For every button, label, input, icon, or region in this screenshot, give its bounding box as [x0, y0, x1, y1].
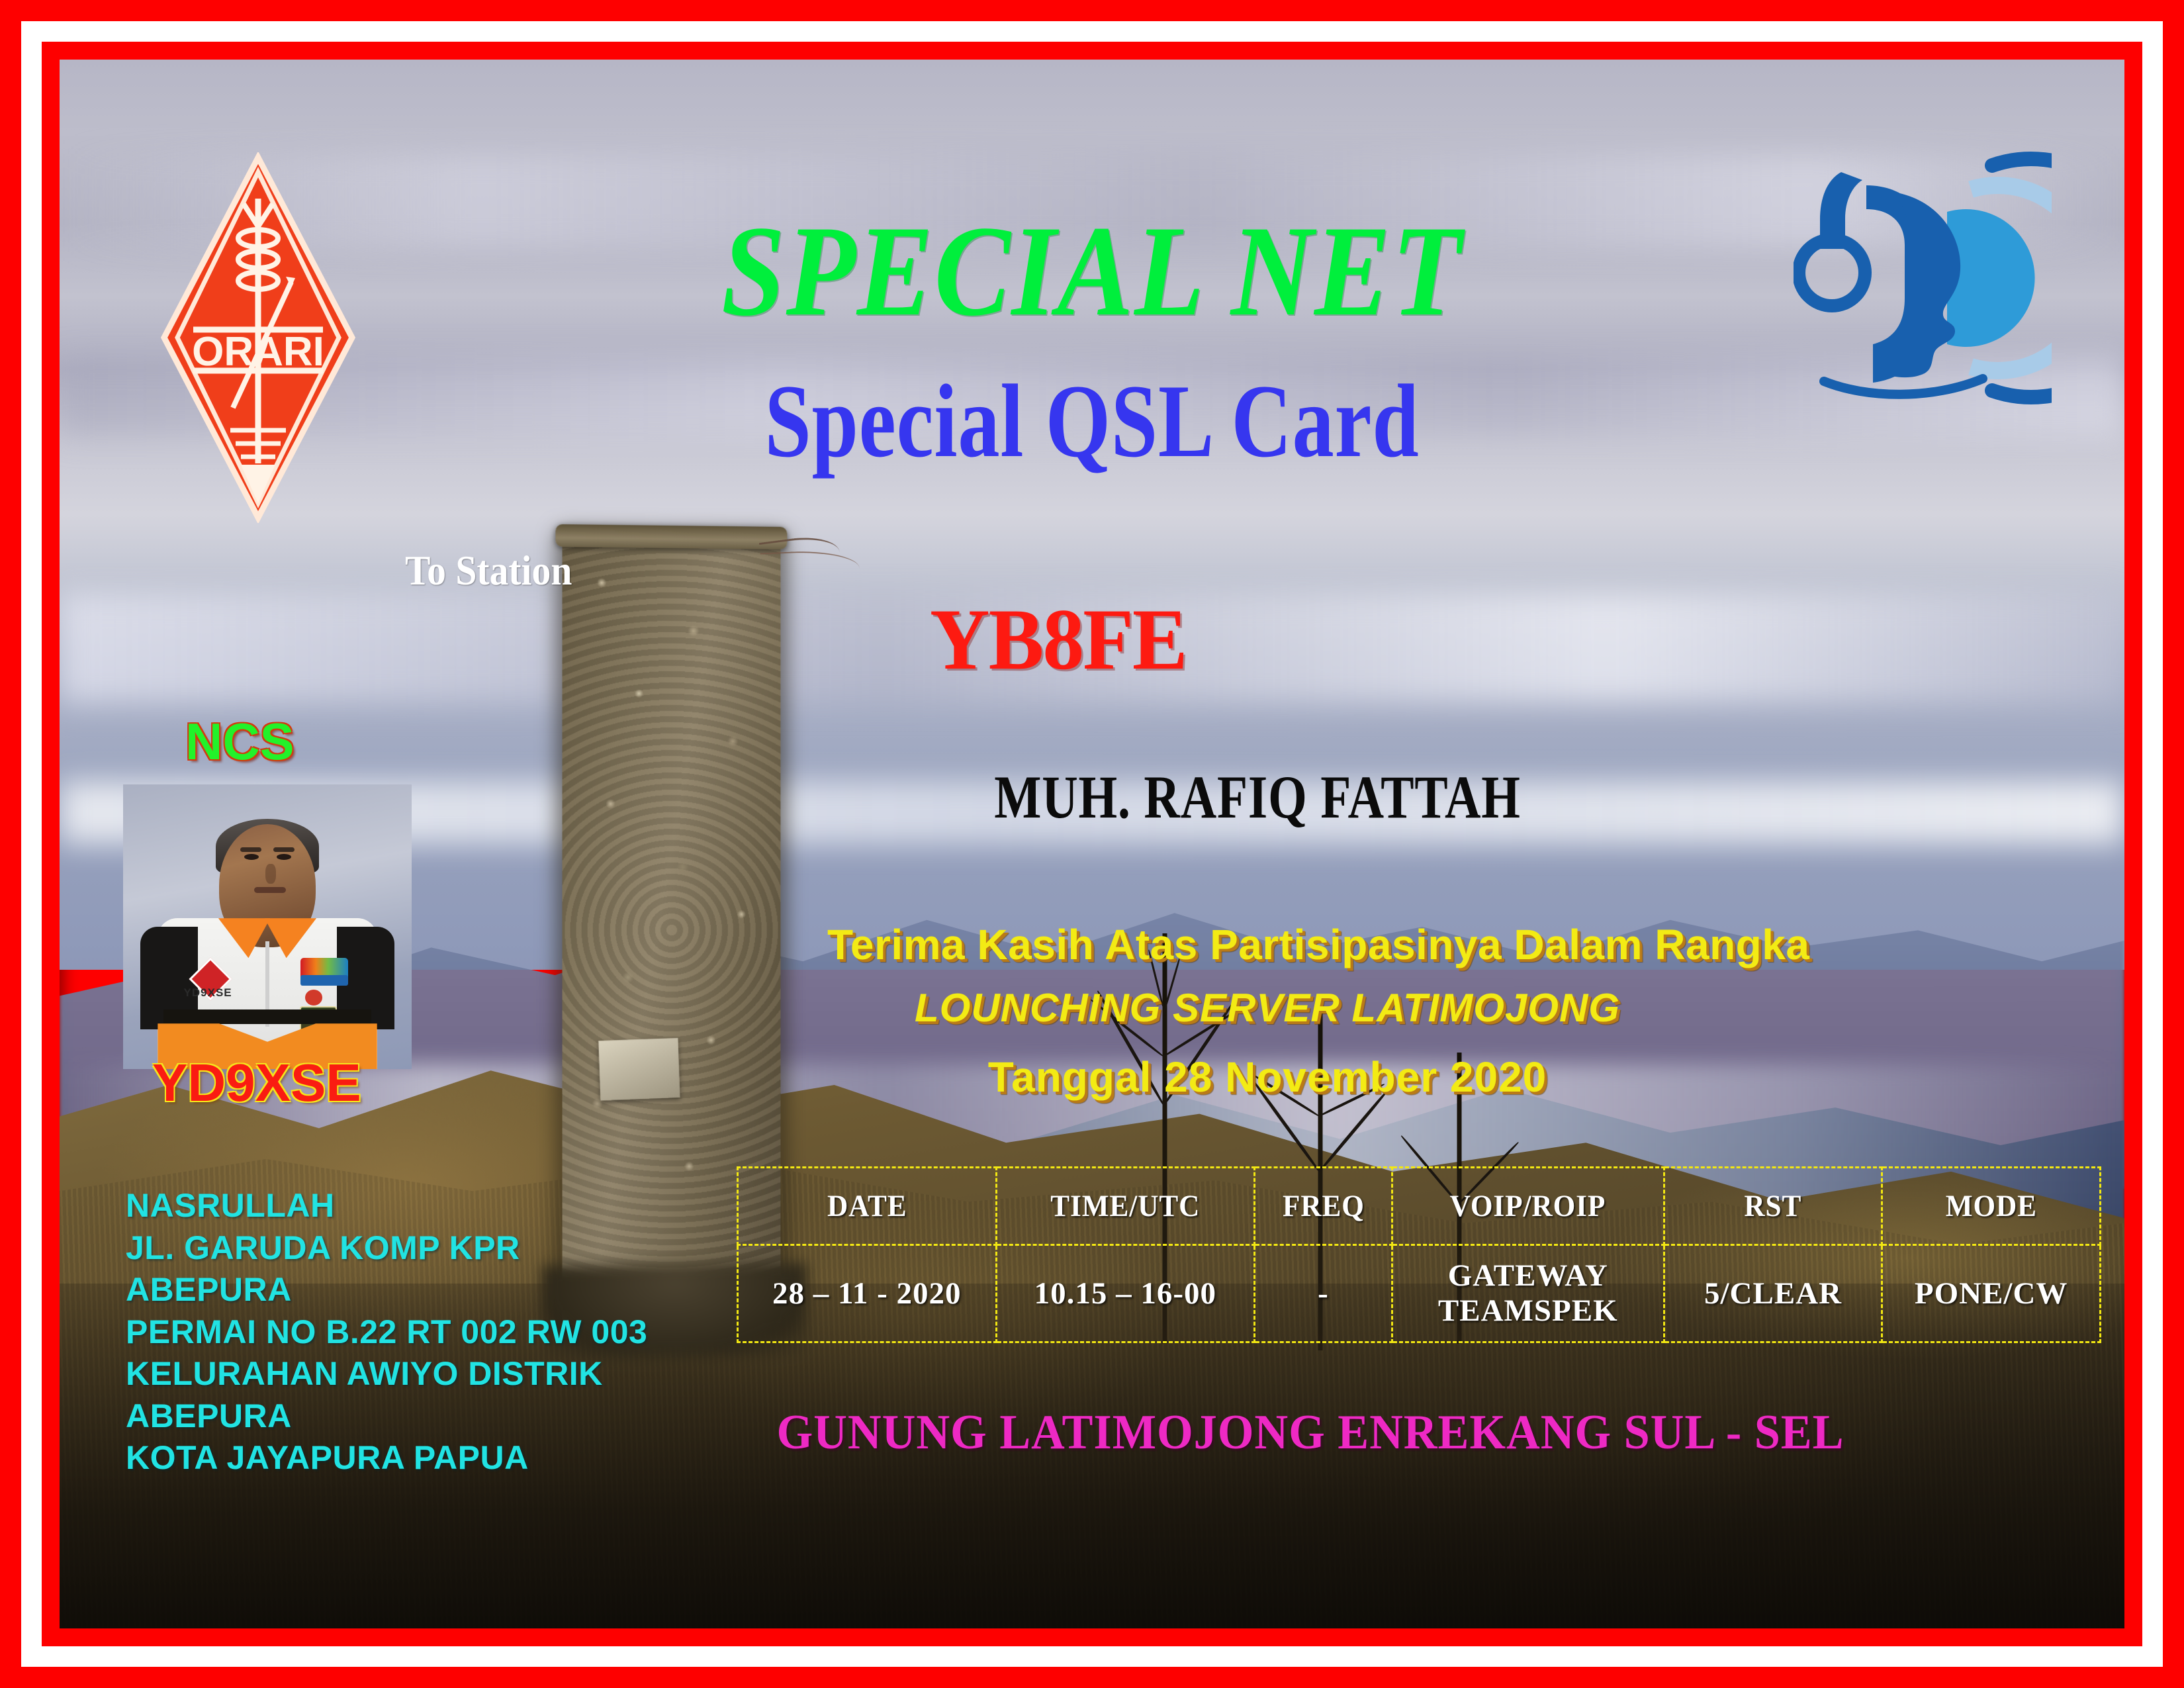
- recipient-callsign: YB8FE: [930, 596, 1559, 683]
- location-label: GUNUNG LATIMOJONG ENREKANG SUL - SEL: [745, 1405, 1876, 1461]
- column-header-time-utc: TIME/UTC: [1007, 1168, 1244, 1245]
- table-row: 28 – 11 - 2020 10.15 – 16-00 - GATEWAY T…: [738, 1245, 2101, 1342]
- cell-rst: 5/CLEAR: [1664, 1245, 1882, 1342]
- cell-voip-roip: GATEWAY TEAMSPEK: [1392, 1245, 1664, 1342]
- cell-voip-line1: GATEWAY: [1394, 1258, 1662, 1293]
- cell-time-utc: 10.15 – 16-00: [996, 1245, 1255, 1342]
- column-header-date: DATE: [748, 1168, 985, 1245]
- event-thanks-line: Terima Kasih Atas Partisipasinya Dalam R…: [827, 920, 1707, 969]
- cell-voip-line2: TEAMSPEK: [1394, 1293, 1662, 1329]
- column-header-freq: FREQ: [1260, 1168, 1387, 1245]
- station-address-block: NASRULLAH JL. GARUDA KOMP KPR ABEPURA PE…: [126, 1185, 721, 1479]
- qso-details-table: DATE TIME/UTC FREQ VOIP/ROIP RST MODE 28…: [737, 1166, 2101, 1343]
- address-line: ABEPURA: [126, 1395, 721, 1438]
- cell-freq: -: [1255, 1245, 1392, 1342]
- address-line: KOTA JAYAPURA PAPUA: [126, 1437, 721, 1479]
- uniform-logo-patch: [300, 975, 348, 986]
- address-line: PERMAI NO B.22 RT 002 RW 003: [126, 1311, 721, 1354]
- column-header-rst: RST: [1672, 1168, 1873, 1245]
- column-header-voip-roip: VOIP/ROIP: [1403, 1168, 1653, 1245]
- address-line: KELURAHAN AWIYO DISTRIK: [126, 1353, 721, 1395]
- card-title-special-qsl-card: Special QSL Card: [266, 369, 1918, 474]
- cairn-plaque: [598, 1038, 680, 1101]
- event-date: Tanggal 28 November 2020: [827, 1053, 1707, 1102]
- cairn-cap: [555, 524, 787, 549]
- event-name: LOUNCHING SERVER LATIMOJONG: [827, 985, 1707, 1031]
- address-line: NASRULLAH: [126, 1185, 721, 1227]
- ncs-operator-photo: YD9XSE: [123, 784, 412, 1069]
- cell-date: 28 – 11 - 2020: [738, 1245, 997, 1342]
- address-line: JL. GARUDA KOMP KPR: [126, 1227, 721, 1270]
- table-header-row: DATE TIME/UTC FREQ VOIP/ROIP RST MODE: [738, 1168, 2101, 1245]
- card-background-photo: ORARI SPECIAL NET Special QSL Card: [60, 60, 2124, 1628]
- ncs-callsign: YD9XSE: [152, 1053, 361, 1113]
- to-station-label: To Station: [405, 549, 572, 592]
- uniform-callsign-text: YD9XSE: [184, 986, 232, 1000]
- badge-clip: [305, 990, 322, 1006]
- address-line: ABEPURA: [126, 1269, 721, 1311]
- operator-name: MUH. RAFIQ FATTAH: [905, 767, 1610, 827]
- cell-mode: PONE/CW: [1882, 1245, 2101, 1342]
- column-header-mode: MODE: [1891, 1168, 2091, 1245]
- ncs-label: NCS: [185, 712, 295, 772]
- qsl-card: ORARI SPECIAL NET Special QSL Card: [0, 0, 2184, 1688]
- card-title-special-net: SPECIAL NET: [183, 207, 2001, 336]
